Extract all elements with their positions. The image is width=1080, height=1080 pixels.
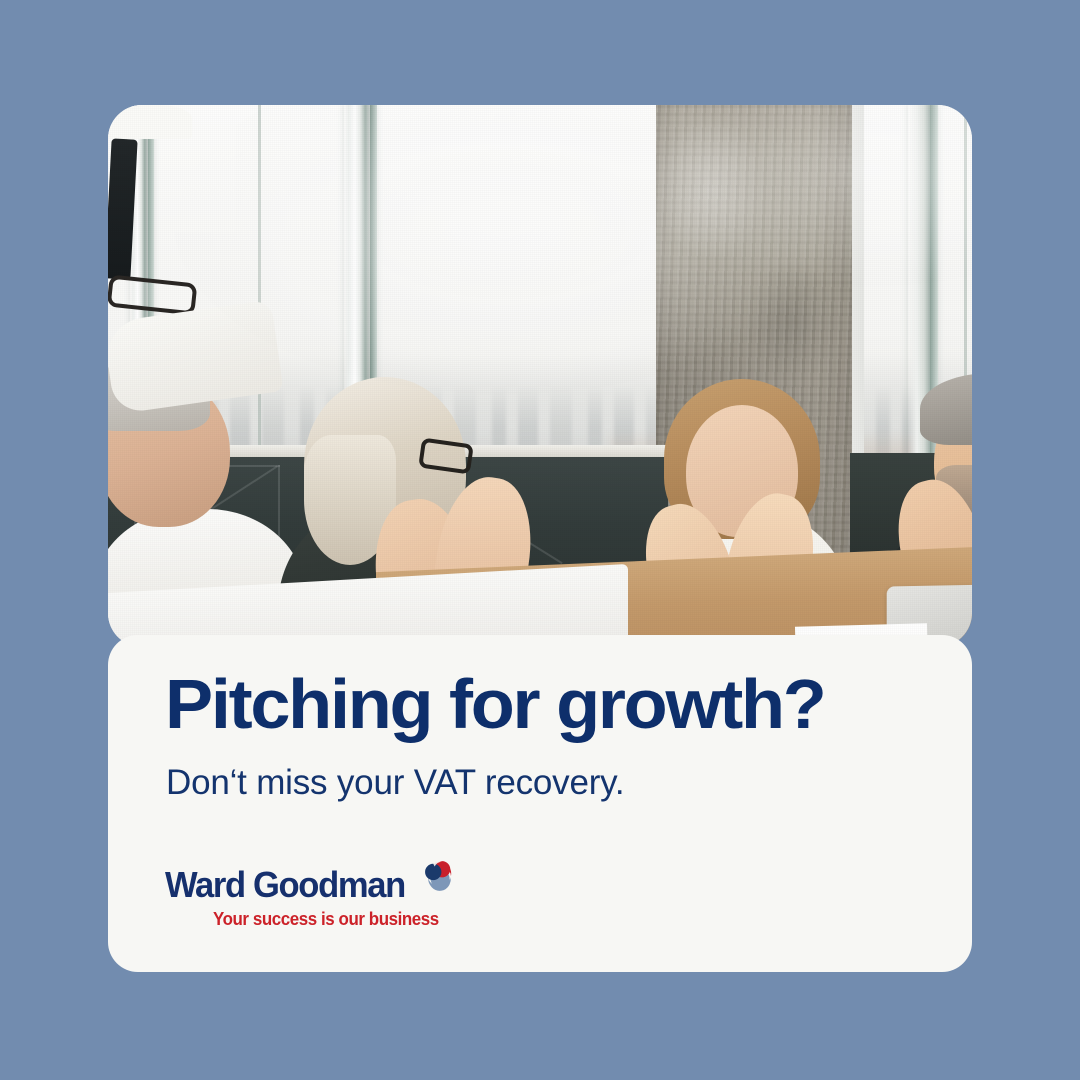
logo-tagline: Your success is our business [213,909,450,930]
ward-goodman-pinwheel-icon [421,857,455,891]
content-card: Pitching for growth? Don‘t miss your VAT… [108,635,972,972]
logo-wordmark: Ward Goodman [165,867,405,903]
logo-row: Ward Goodman [165,867,465,903]
page-title: Pitching for growth? [165,669,825,739]
hero-photo: OFFICE [108,105,972,647]
social-post-canvas: OFFICE Pitching for growth? D [0,0,1080,1080]
person-man-left-glasses [108,105,278,403]
brand-logo: Ward Goodman [165,867,465,930]
subtitle: Don‘t miss your VAT recovery. [166,763,624,803]
photo-scene: OFFICE [108,105,972,647]
